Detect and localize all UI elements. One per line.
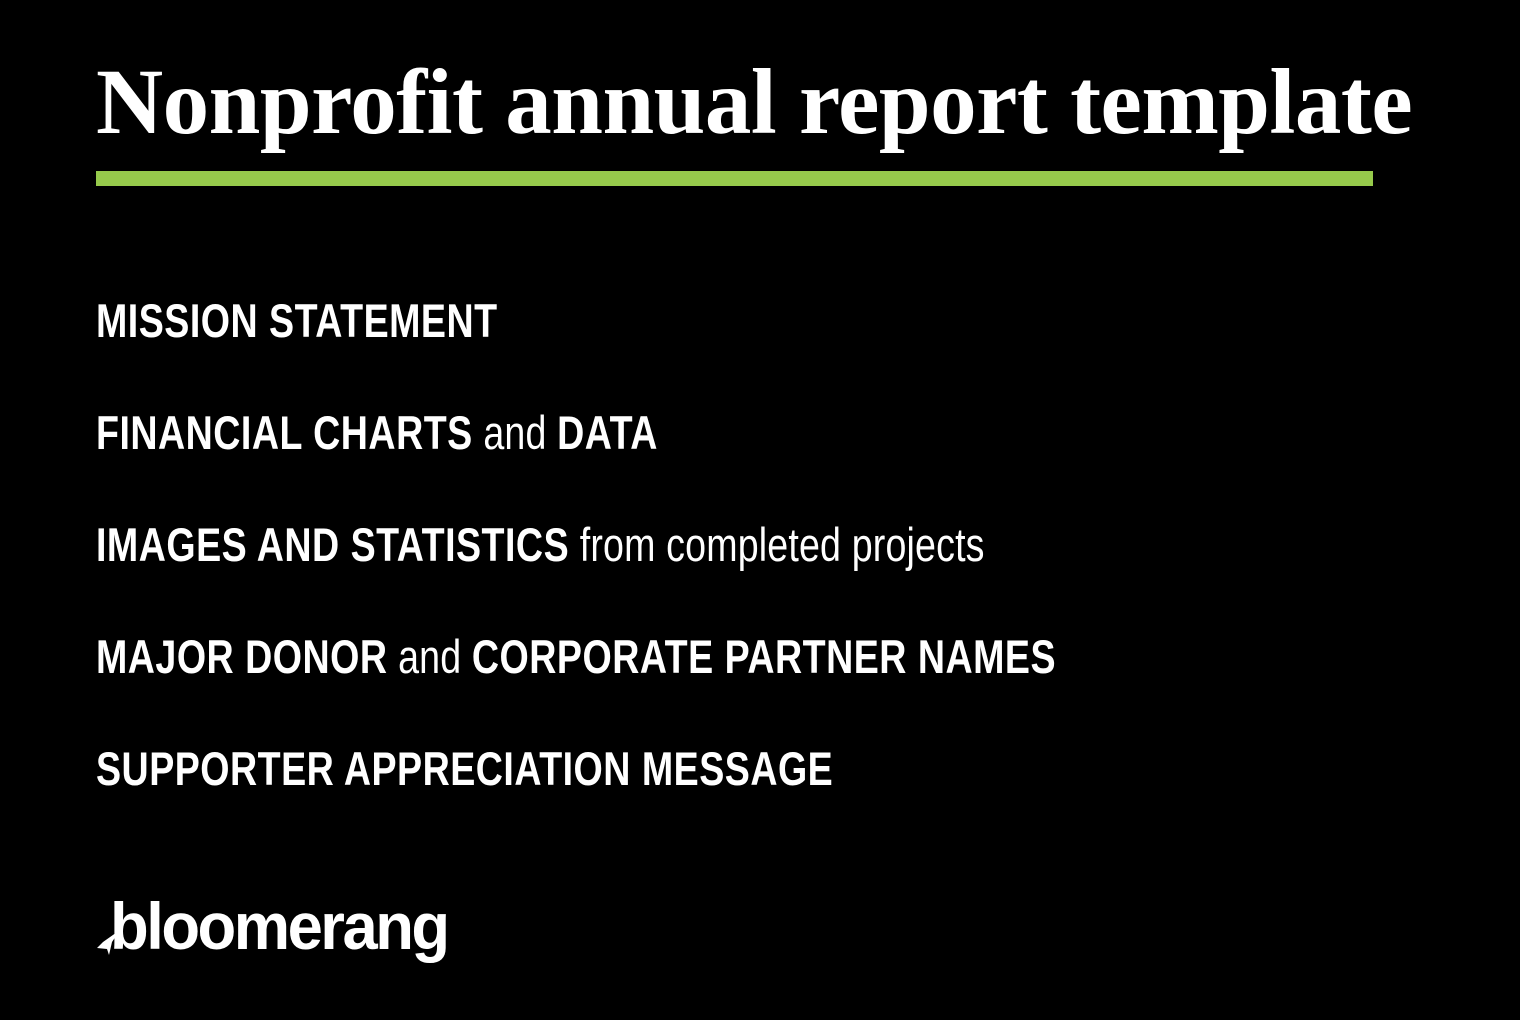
list-item-segment: and: [387, 630, 471, 683]
list-item-segment: MAJOR DONOR: [96, 630, 387, 683]
bloomerang-logo: bloomerang: [96, 893, 406, 971]
list-item: SUPPORTER APPRECIATION MESSAGE: [96, 743, 1168, 855]
list-item-segment: MISSION STATEMENT: [96, 294, 498, 347]
title-accent-rule: [96, 171, 1373, 186]
list-item-segment: FINANCIAL CHARTS: [96, 406, 473, 459]
list-item-segment: from completed projects: [569, 518, 985, 571]
list-item-segment: DATA: [557, 406, 658, 459]
list-item-segment: SUPPORTER APPRECIATION MESSAGE: [96, 742, 833, 795]
list-item: FINANCIAL CHARTS and DATA: [96, 407, 1168, 519]
list-item-segment: IMAGES AND STATISTICS: [96, 518, 569, 571]
template-section-list: MISSION STATEMENT FINANCIAL CHARTS and D…: [96, 295, 1436, 855]
list-item: IMAGES AND STATISTICS from completed pro…: [96, 519, 1168, 631]
title-block: Nonprofit annual report template: [96, 56, 1396, 149]
page-title: Nonprofit annual report template: [96, 56, 1396, 149]
list-item-segment: and: [473, 406, 557, 459]
logo-wordmark: bloomerang: [110, 893, 448, 959]
list-item: MISSION STATEMENT: [96, 295, 1168, 407]
slide-canvas: Nonprofit annual report template MISSION…: [0, 0, 1520, 1020]
list-item-segment: CORPORATE PARTNER NAMES: [472, 630, 1056, 683]
list-item: MAJOR DONOR and CORPORATE PARTNER NAMES: [96, 631, 1168, 743]
